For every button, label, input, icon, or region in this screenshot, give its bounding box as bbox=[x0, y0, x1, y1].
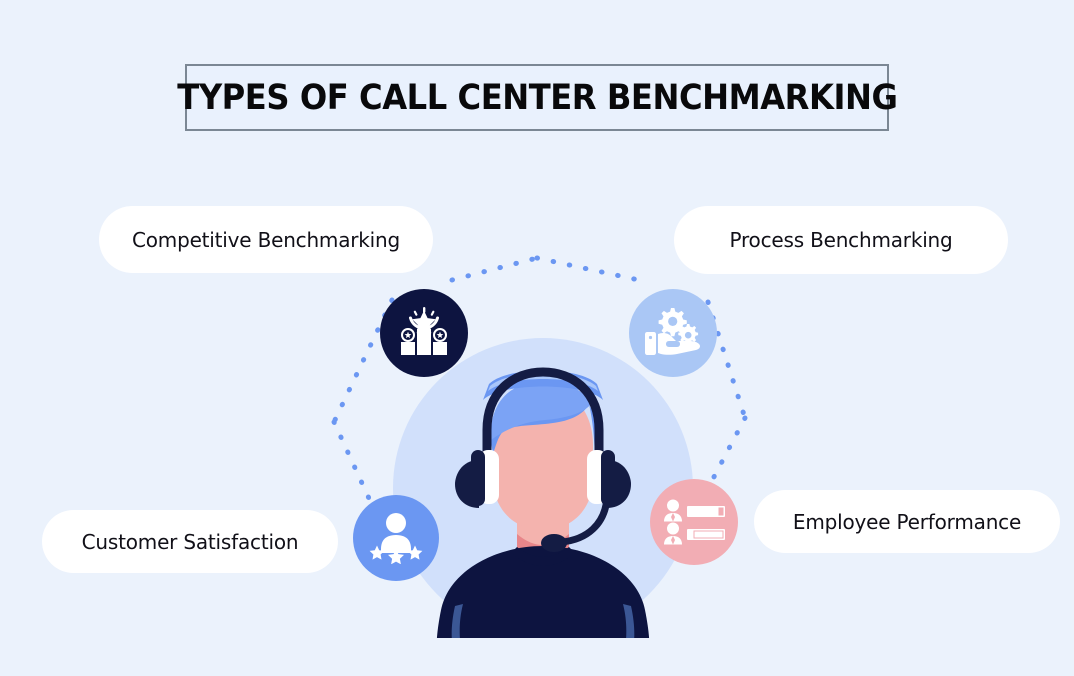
label-pill-employee-performance[interactable]: Employee Performance bbox=[754, 490, 1060, 553]
label-employee-performance: Employee Performance bbox=[793, 510, 1021, 534]
call-center-agent-figure bbox=[393, 338, 693, 648]
hand-gears-icon[interactable] bbox=[629, 289, 717, 377]
label-competitive-benchmarking: Competitive Benchmarking bbox=[132, 228, 400, 252]
center-illustration bbox=[393, 338, 693, 648]
label-pill-competitive-benchmarking[interactable]: Competitive Benchmarking bbox=[99, 206, 433, 273]
page-title: TYPES OF CALL CENTER BENCHMARKING bbox=[177, 78, 897, 118]
people-progress-glyph bbox=[663, 499, 725, 545]
podium-star-icon[interactable] bbox=[380, 289, 468, 377]
label-pill-customer-satisfaction[interactable]: Customer Satisfaction bbox=[42, 510, 338, 573]
label-process-benchmarking: Process Benchmarking bbox=[729, 228, 952, 252]
infographic-canvas: TYPES OF CALL CENTER BENCHMARKING bbox=[0, 0, 1074, 676]
page-title-box: TYPES OF CALL CENTER BENCHMARKING bbox=[185, 64, 889, 131]
bottom-crop-mask bbox=[0, 638, 1074, 676]
podium-star-glyph bbox=[396, 305, 452, 361]
hand-gears-glyph bbox=[644, 306, 702, 360]
person-stars-glyph bbox=[368, 512, 424, 564]
people-progress-bars-icon[interactable] bbox=[650, 479, 738, 565]
label-customer-satisfaction: Customer Satisfaction bbox=[82, 530, 299, 554]
label-pill-process-benchmarking[interactable]: Process Benchmarking bbox=[674, 206, 1008, 274]
person-stars-rating-icon[interactable] bbox=[353, 495, 439, 581]
